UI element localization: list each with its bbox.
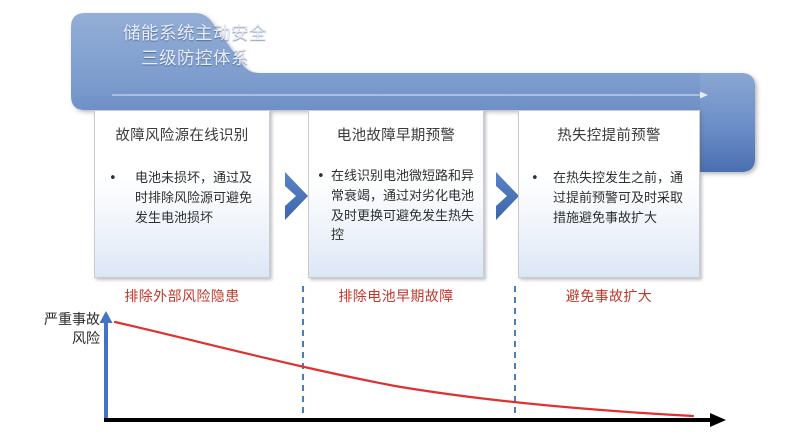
x-axis bbox=[104, 413, 726, 427]
chevron-icon-2 bbox=[496, 172, 519, 220]
phase-caption-3: 避免事故扩大 bbox=[518, 286, 700, 306]
stage-bullet-text-3: 在热失控发生之前，通过提前预警可及时采取措施避免事故扩大 bbox=[553, 169, 693, 228]
stage-box-1[interactable]: 故障风险源在线识别 • 电池未损坏，通过及时排除风险源可避免发生电池损坏 bbox=[94, 110, 270, 278]
stage-bullet-text-2: 在线识别电池微短路和异常衰竭，通过对劣化电池及时更换可避免发生热失控 bbox=[331, 167, 477, 246]
y-axis-label: 严重事故 风险 bbox=[8, 311, 100, 349]
y-axis bbox=[100, 311, 113, 420]
stage-body-2: • 在线识别电池微短路和异常衰竭，通过对劣化电池及时更换可避免发生热失控 bbox=[317, 167, 477, 246]
stage-body-3: • 在热失控发生之前，通过提前预警可及时采取措施避免事故扩大 bbox=[531, 169, 693, 228]
stage-bullet-text-1: 电池未损坏，通过及时排除风险源可避免发生电池损坏 bbox=[135, 169, 259, 228]
bullet-marker-3: • bbox=[531, 169, 553, 228]
stage-title-1: 故障风险源在线识别 bbox=[95, 124, 269, 145]
bullet-marker-1: • bbox=[109, 169, 135, 228]
stage-box-2[interactable]: 电池故障早期预警 • 在线识别电池微短路和异常衰竭，通过对劣化电池及时更换可避免… bbox=[308, 110, 484, 278]
bullet-marker-2: • bbox=[317, 167, 331, 246]
stage-box-3[interactable]: 热失控提前预警 • 在热失控发生之前，通过提前预警可及时采取措施避免事故扩大 bbox=[518, 110, 700, 278]
risk-curve bbox=[115, 322, 693, 416]
stage-title-2: 电池故障早期预警 bbox=[309, 124, 483, 145]
phase-caption-1: 排除外部风险隐患 bbox=[94, 286, 270, 306]
banner-title: 储能系统主动安全 三级防控体系 bbox=[80, 22, 310, 73]
stage-body-1: • 电池未损坏，通过及时排除风险源可避免发生电池损坏 bbox=[109, 169, 259, 228]
progress-arrow-icon bbox=[112, 92, 708, 99]
slide-canvas: 储能系统主动安全 三级防控体系 故障风险源在线识别 • 电池未损坏，通过及时排除… bbox=[0, 0, 800, 437]
stage-title-3: 热失控提前预警 bbox=[519, 124, 699, 145]
phase-caption-2: 排除电池早期故障 bbox=[308, 286, 484, 306]
chevron-icon-1 bbox=[285, 172, 308, 220]
